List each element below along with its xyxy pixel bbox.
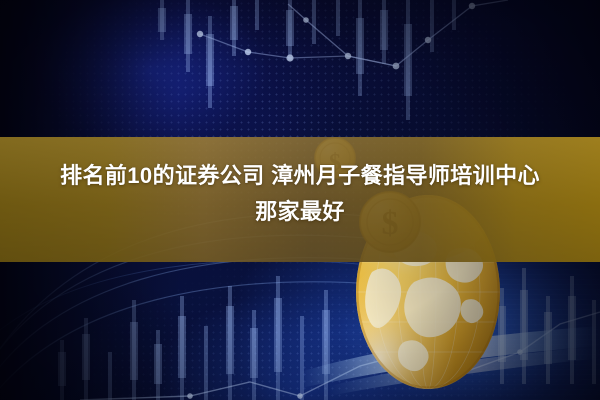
banner-image: $ $ 排名前10的证券公司 漳州月子餐指导师培训中心 那家最好 [0, 0, 600, 400]
page-title: 排名前10的证券公司 漳州月子餐指导师培训中心 那家最好 [0, 158, 600, 230]
